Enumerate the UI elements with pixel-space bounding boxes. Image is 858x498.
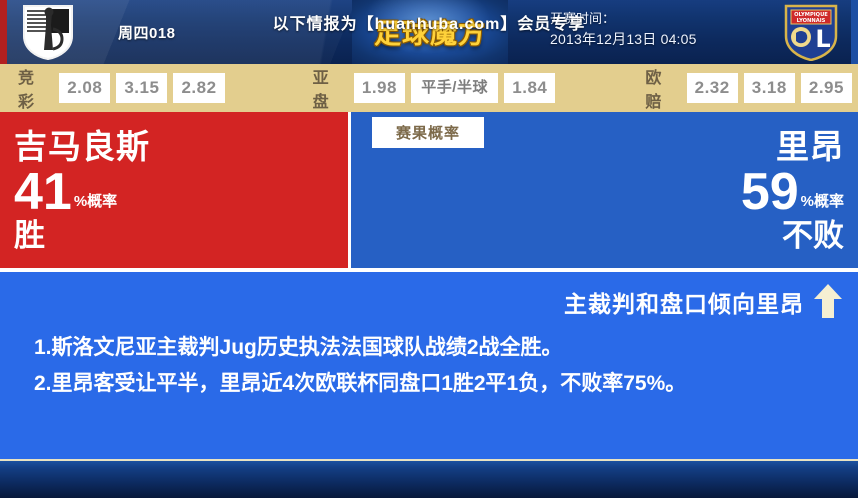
footer-top-divider [0,459,858,461]
analysis-note-item: 2.里昂客受让平半，里昂近4次欧联杯同盘口1胜2平1负，不败率75%。 [34,366,834,402]
odds-value[interactable]: 3.18 [744,73,795,103]
odds-value[interactable]: 1.98 [354,73,405,103]
home-probability-suffix: %概率 [72,190,117,218]
odds-value[interactable]: 3.15 [116,73,167,103]
odds-group-label: 欧赔 [645,64,677,112]
odds-value[interactable]: 2.82 [173,73,224,103]
analysis-title: 主裁判和盘口倾向里昂 [564,285,804,319]
tab-match-result-probability[interactable]: 赛果概率 [372,117,484,148]
odds-value[interactable]: 2.08 [59,73,110,103]
away-probability-row: 59 %概率 [741,166,844,218]
away-probability-suffix: %概率 [799,190,844,218]
match-preview-page: 周四018 足球魔方 开赛时间： 2013年12月13日 04:05 OLYMP… [0,0,858,498]
odds-handicap-value[interactable]: 平手/半球 [411,73,498,103]
home-probability-row: 41 %概率 [14,166,150,218]
away-team-name: 里昂 [741,128,844,166]
home-probability-value: 41 [14,166,72,218]
odds-group-jingcai: 竞彩 2.08 3.15 2.82 [18,64,231,112]
away-probability-value: 59 [741,166,799,218]
odds-value[interactable]: 2.95 [801,73,852,103]
home-team-name: 吉马良斯 [14,128,150,166]
odds-value[interactable]: 1.84 [504,73,555,103]
analysis-note-item: 1.斯洛文尼亚主裁判Jug历史执法法国球队战绩2战全胜。 [34,330,834,366]
away-probability-result: 不败 [741,218,844,254]
odds-group-label: 竞彩 [18,64,50,112]
home-probability-block: 吉马良斯 41 %概率 胜 [14,128,150,254]
footer-bar [0,459,858,498]
footer-text: 以下情报为【huanhuba.com】会员专享 [0,10,858,34]
analysis-notes: 1.斯洛文尼亚主裁判Jug历史执法法国球队战绩2战全胜。 2.里昂客受让平半，里… [34,330,834,402]
away-probability-block: 里昂 59 %概率 不败 [741,128,844,254]
odds-bar: 竞彩 2.08 3.15 2.82 亚盘 1.98 平手/半球 1.84 欧赔 … [0,64,858,112]
arrow-up-icon [812,282,844,320]
odds-group-oupei: 欧赔 2.32 3.18 2.95 [645,64,858,112]
odds-value[interactable]: 2.32 [687,73,738,103]
odds-group-label: 亚盘 [313,64,345,112]
odds-group-yapan: 亚盘 1.98 平手/半球 1.84 [313,64,562,112]
home-probability-result: 胜 [14,218,150,254]
tab-label: 赛果概率 [396,122,460,143]
